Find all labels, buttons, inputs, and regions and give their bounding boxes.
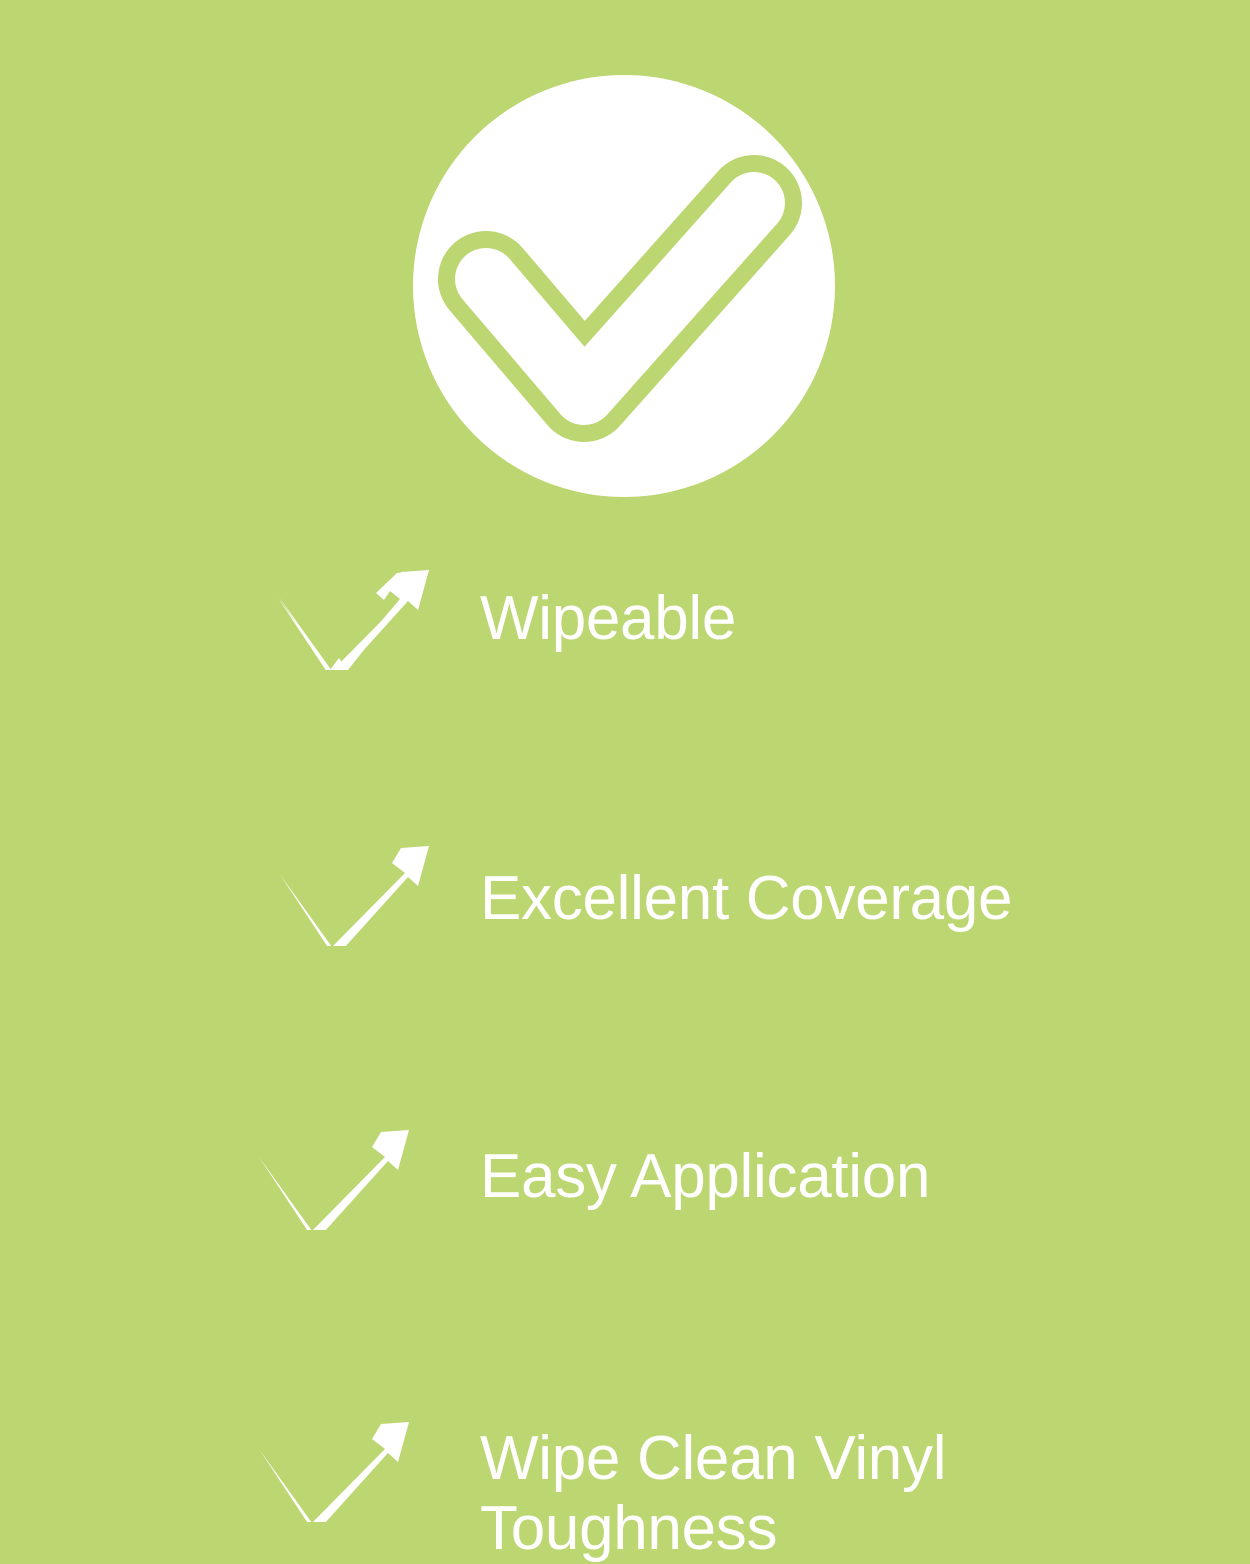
feature-label: Wipeable — [480, 584, 736, 654]
feature-label: Easy Application — [480, 1142, 930, 1212]
check-arrow-up-icon — [252, 1422, 432, 1522]
feature-highlight-poster: Wipeable Excellent Coverage Easy Applica… — [0, 0, 1250, 1250]
list-item: Excellent Coverage — [0, 700, 1250, 830]
list-item: Wipeable — [0, 560, 1250, 690]
check-arrow-up-icon — [272, 570, 452, 670]
check-circle-icon — [413, 75, 835, 497]
check-circle-badge — [413, 75, 835, 497]
list-item: Easy Application — [0, 842, 1250, 972]
feature-label: Wipe Clean Vinyl Toughness — [480, 1424, 946, 1564]
list-item: Wipe Clean Vinyl Toughness — [0, 984, 1250, 1114]
check-arrow-up-icon — [252, 1130, 432, 1230]
